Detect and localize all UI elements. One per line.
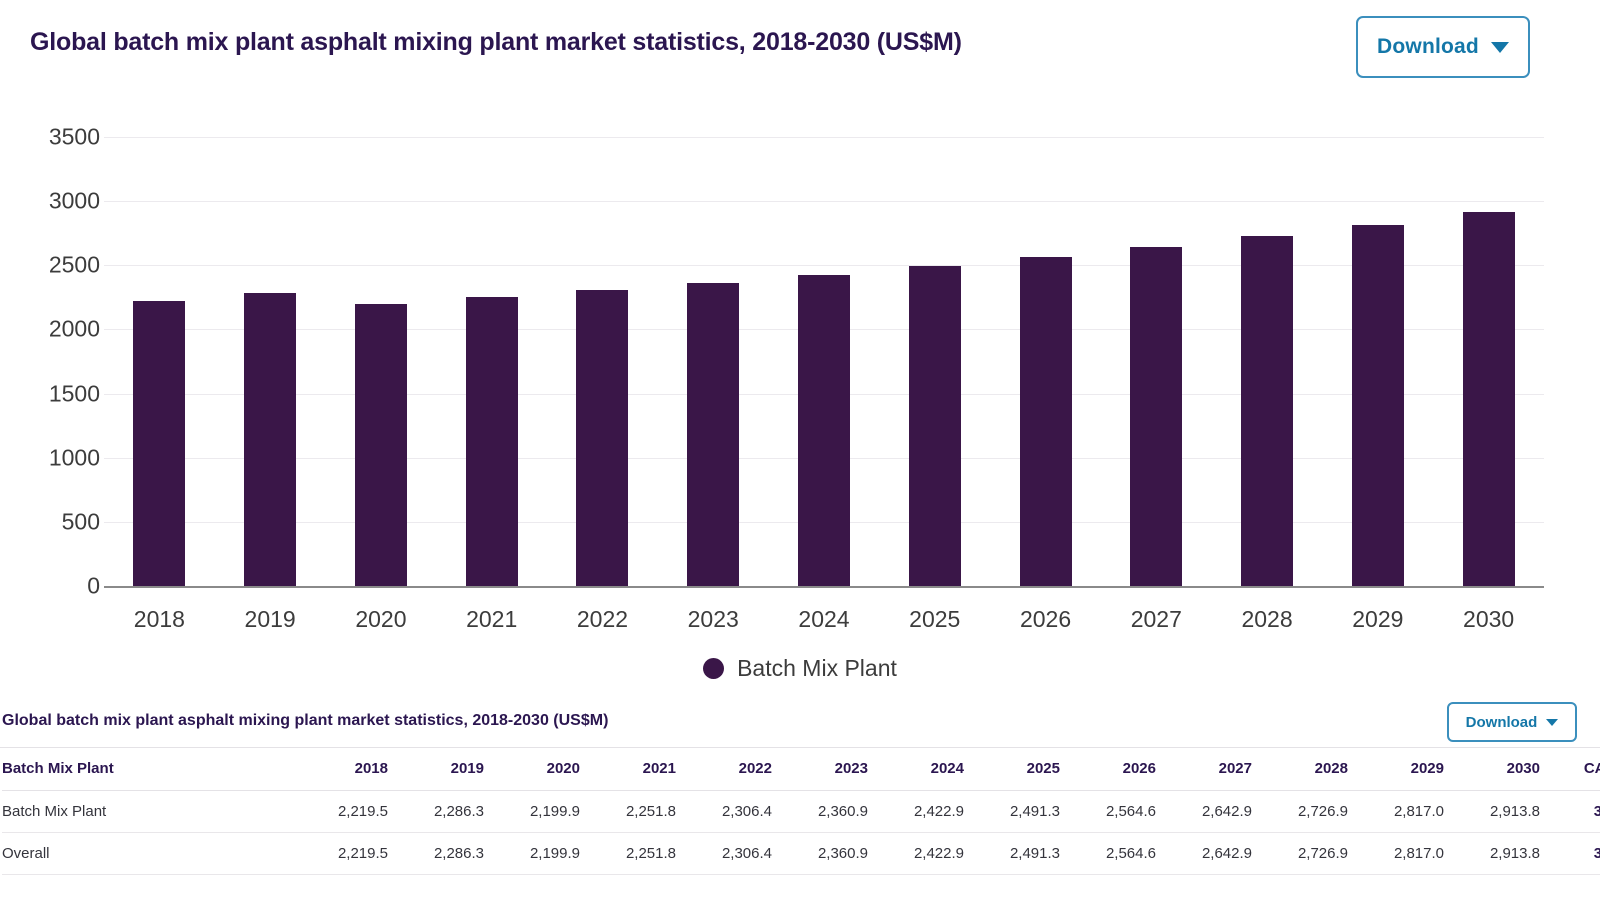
table-column-header-year: 2030 — [1454, 748, 1550, 790]
table-cell-value: 2,913.8 — [1454, 790, 1550, 832]
bar-chart: 0500100015002000250030003500 20182019202… — [0, 0, 1600, 700]
table-row: Overall2,219.52,286.32,199.92,251.82,306… — [2, 832, 1600, 874]
table-cell-value: 2,817.0 — [1358, 790, 1454, 832]
x-axis-tick-label: 2027 — [1131, 606, 1182, 633]
chart-legend: Batch Mix Plant — [0, 655, 1600, 682]
table-cell-value: 2,913.8 — [1454, 832, 1550, 874]
gridline — [104, 137, 1544, 138]
table-cell-value: 2,422.9 — [878, 790, 974, 832]
table-column-header-year: 2026 — [1070, 748, 1166, 790]
plot-area — [104, 0, 1544, 700]
bar[interactable] — [909, 266, 961, 586]
y-axis-tick-label: 0 — [8, 573, 100, 600]
table-cell-value: 2,564.6 — [1070, 790, 1166, 832]
table-cell-value: 2,817.0 — [1358, 832, 1454, 874]
bar[interactable] — [355, 304, 407, 586]
table-cell-value: 2,726.9 — [1262, 790, 1358, 832]
table-column-header-year: 2021 — [590, 748, 686, 790]
table-cell-cagr: 3.1% — [1550, 790, 1600, 832]
legend-label: Batch Mix Plant — [737, 655, 897, 682]
table-cell-value: 2,251.8 — [590, 832, 686, 874]
table-cell-value: 2,564.6 — [1070, 832, 1166, 874]
table-cell-row-name: Batch Mix Plant — [2, 790, 302, 832]
table-cell-value: 2,219.5 — [302, 832, 398, 874]
y-axis-tick-label: 500 — [8, 508, 100, 535]
table-cell-value: 2,251.8 — [590, 790, 686, 832]
x-axis-tick-label: 2023 — [688, 606, 739, 633]
table-head: Batch Mix Plant2018201920202021202220232… — [2, 748, 1600, 790]
table-column-header-year: 2018 — [302, 748, 398, 790]
table-header-row: Batch Mix Plant2018201920202021202220232… — [2, 748, 1600, 790]
y-axis-tick-label: 2000 — [8, 316, 100, 343]
y-axis-tick-label: 3000 — [8, 188, 100, 215]
legend-marker-icon — [703, 658, 724, 679]
gridline — [104, 201, 1544, 202]
table-download-button-label: Download — [1466, 714, 1538, 731]
table-cell-value: 2,726.9 — [1262, 832, 1358, 874]
x-axis-tick-label: 2024 — [798, 606, 849, 633]
table-cell-value: 2,219.5 — [302, 790, 398, 832]
table-cell-value: 2,491.3 — [974, 832, 1070, 874]
table-column-header-year: 2020 — [494, 748, 590, 790]
bar[interactable] — [798, 275, 850, 586]
table-cell-value: 2,306.4 — [686, 832, 782, 874]
table-column-header-year: 2025 — [974, 748, 1070, 790]
chevron-down-icon — [1546, 719, 1558, 726]
table-cell-value: 2,306.4 — [686, 790, 782, 832]
x-axis-tick-label: 2018 — [134, 606, 185, 633]
table-title: Global batch mix plant asphalt mixing pl… — [2, 712, 608, 730]
y-axis-tick-label: 3500 — [8, 124, 100, 151]
table-cell-value: 2,422.9 — [878, 832, 974, 874]
x-axis-tick-label: 2028 — [1241, 606, 1292, 633]
table-cell-value: 2,199.9 — [494, 790, 590, 832]
x-axis-tick-label: 2022 — [577, 606, 628, 633]
table-column-header-year: 2024 — [878, 748, 974, 790]
table-download-button[interactable]: Download — [1447, 702, 1577, 742]
table-cell-value: 2,360.9 — [782, 832, 878, 874]
x-axis-line — [104, 586, 1544, 588]
gridline — [104, 265, 1544, 266]
table-cell-value: 2,286.3 — [398, 790, 494, 832]
x-axis-tick-label: 2030 — [1463, 606, 1514, 633]
table-column-header-name: Batch Mix Plant — [2, 748, 302, 790]
table-cell-row-name: Overall — [2, 832, 302, 874]
bar[interactable] — [1352, 225, 1404, 586]
table-column-header-year: 2023 — [782, 748, 878, 790]
bar[interactable] — [1130, 247, 1182, 586]
bar[interactable] — [687, 283, 739, 586]
y-axis-tick-label: 1000 — [8, 444, 100, 471]
bar[interactable] — [466, 297, 518, 586]
x-axis-tick-label: 2021 — [466, 606, 517, 633]
bar[interactable] — [1020, 257, 1072, 586]
y-axis-tick-label: 1500 — [8, 380, 100, 407]
table-row: Batch Mix Plant2,219.52,286.32,199.92,25… — [2, 790, 1600, 832]
statistics-table-section: Global batch mix plant asphalt mixing pl… — [0, 700, 1600, 875]
table-column-header-year: 2027 — [1166, 748, 1262, 790]
bar[interactable] — [133, 301, 185, 586]
x-axis-tick-label: 2029 — [1352, 606, 1403, 633]
table-header-bar: Global batch mix plant asphalt mixing pl… — [0, 700, 1600, 748]
x-axis-tick-label: 2026 — [1020, 606, 1071, 633]
table-cell-value: 2,360.9 — [782, 790, 878, 832]
table-cell-value: 2,286.3 — [398, 832, 494, 874]
bar[interactable] — [576, 290, 628, 586]
y-axis-tick-labels: 0500100015002000250030003500 — [0, 0, 100, 700]
bar[interactable] — [244, 293, 296, 586]
statistics-table: Batch Mix Plant2018201920202021202220232… — [2, 748, 1600, 875]
bar[interactable] — [1241, 236, 1293, 586]
x-axis-tick-label: 2019 — [245, 606, 296, 633]
table-cell-value: 2,491.3 — [974, 790, 1070, 832]
table-cell-value: 2,642.9 — [1166, 832, 1262, 874]
bar[interactable] — [1463, 212, 1515, 586]
table-cell-value: 2,199.9 — [494, 832, 590, 874]
x-axis-tick-label: 2020 — [355, 606, 406, 633]
chart-page: Global batch mix plant asphalt mixing pl… — [0, 0, 1600, 900]
table-cell-cagr: 3.1% — [1550, 832, 1600, 874]
x-axis-tick-label: 2025 — [909, 606, 960, 633]
table-body: Batch Mix Plant2,219.52,286.32,199.92,25… — [2, 790, 1600, 874]
table-column-header-year: 2022 — [686, 748, 782, 790]
table-column-header-year: 2028 — [1262, 748, 1358, 790]
table-cell-value: 2,642.9 — [1166, 790, 1262, 832]
table-column-header-year: 2019 — [398, 748, 494, 790]
table-column-header-cagr: CAGR — [1550, 748, 1600, 790]
y-axis-tick-label: 2500 — [8, 252, 100, 279]
table-column-header-year: 2029 — [1358, 748, 1454, 790]
